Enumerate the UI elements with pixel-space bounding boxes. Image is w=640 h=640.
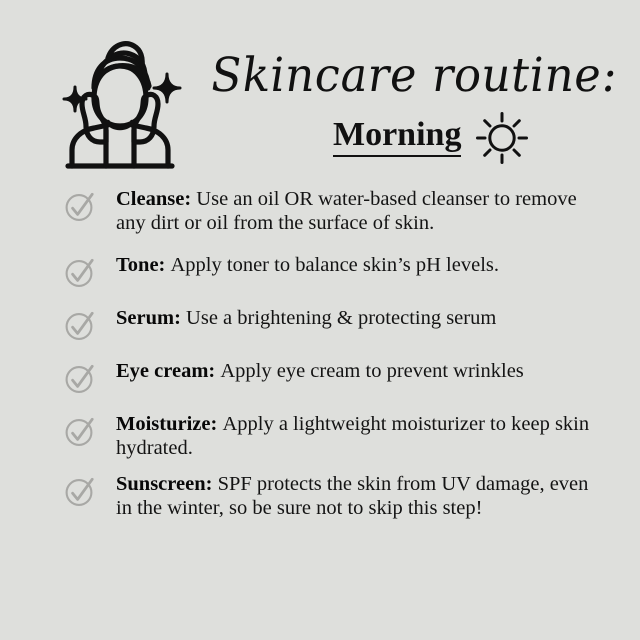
title-block: Skincare routine: Morning xyxy=(205,46,625,181)
sun-icon xyxy=(475,109,529,165)
subtitle-morning: Morning xyxy=(333,118,461,157)
list-item-text: Serum: Use a brightening & protecting se… xyxy=(116,307,608,331)
list-item-text: Cleanse: Use an oil OR water-based clean… xyxy=(116,188,608,235)
list-item-text: Eye cream: Apply eye cream to prevent wr… xyxy=(116,360,608,384)
list-item-description: Apply toner to balance skin’s pH levels. xyxy=(171,254,500,276)
check-circle-icon xyxy=(64,473,116,507)
list-item-label: Moisturize: xyxy=(116,413,222,435)
poster-header: Skincare routine: Morning xyxy=(0,0,640,185)
list-item: Sunscreen: SPF protects the skin from UV… xyxy=(0,473,640,520)
list-item: Moisturize: Apply a lightweight moisturi… xyxy=(0,413,640,460)
list-item-description: Use a brightening & protecting serum xyxy=(186,307,496,329)
list-item: Tone: Apply toner to balance skin’s pH l… xyxy=(0,254,640,288)
list-item-label: Serum: xyxy=(116,307,186,329)
check-circle-icon xyxy=(64,413,116,447)
list-item: Cleanse: Use an oil OR water-based clean… xyxy=(0,188,640,235)
subtitle-row: Morning xyxy=(333,109,529,165)
woman-face-care-icon xyxy=(50,26,190,171)
list-item-label: Sunscreen: xyxy=(116,473,218,495)
list-item-label: Tone: xyxy=(116,254,171,276)
check-circle-icon xyxy=(64,254,116,288)
check-circle-icon xyxy=(64,188,116,222)
list-item-text: Moisturize: Apply a lightweight moisturi… xyxy=(116,413,608,460)
skincare-routine-poster: Skincare routine: Morning xyxy=(0,0,640,640)
list-item: Eye cream: Apply eye cream to prevent wr… xyxy=(0,360,640,394)
check-circle-icon xyxy=(64,360,116,394)
list-item: Serum: Use a brightening & protecting se… xyxy=(0,307,640,341)
routine-steps-list: Cleanse: Use an oil OR water-based clean… xyxy=(0,188,640,533)
list-item-label: Eye cream: xyxy=(116,360,220,382)
list-item-text: Sunscreen: SPF protects the skin from UV… xyxy=(116,473,608,520)
list-item-description: Apply eye cream to prevent wrinkles xyxy=(220,360,523,382)
check-circle-icon xyxy=(64,307,116,341)
list-item-label: Cleanse: xyxy=(116,188,196,210)
page-title: Skincare routine: xyxy=(210,52,618,99)
list-item-text: Tone: Apply toner to balance skin’s pH l… xyxy=(116,254,608,278)
